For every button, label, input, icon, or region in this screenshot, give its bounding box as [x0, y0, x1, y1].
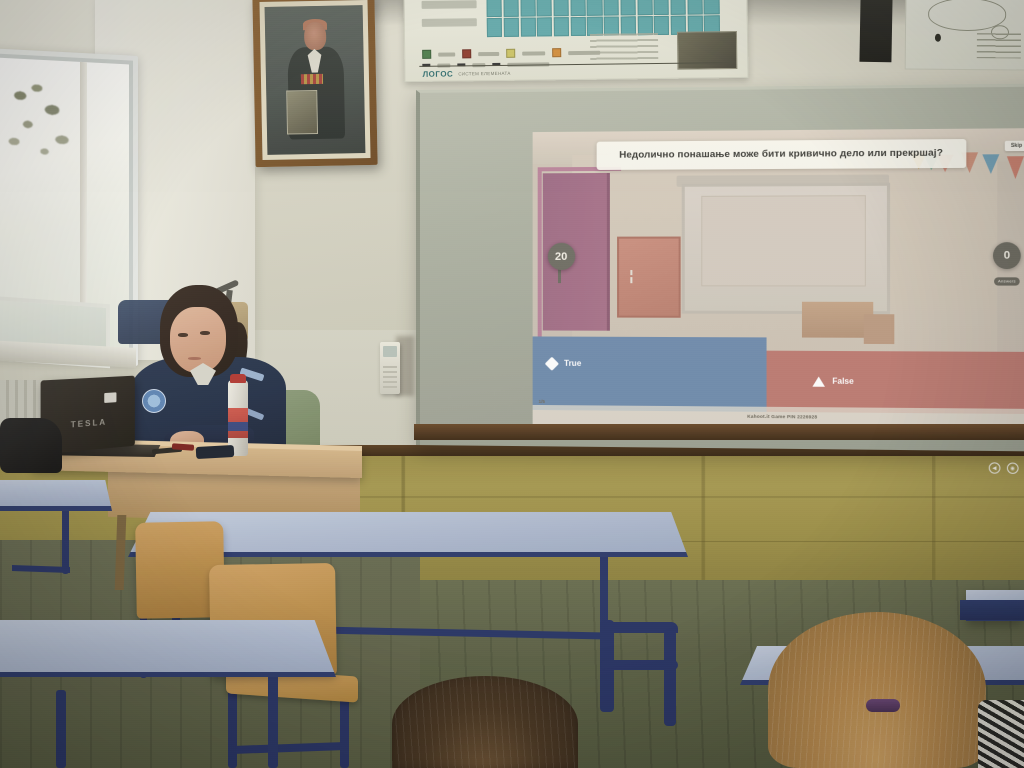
- ac-remote-control[interactable]: [380, 342, 400, 394]
- bottle-cap: [230, 374, 246, 383]
- answer-button-false[interactable]: False: [767, 351, 1024, 414]
- bag: [0, 418, 62, 473]
- student-desk: [0, 480, 112, 511]
- poster-legend-row-1: [422, 48, 600, 59]
- poster-row-label: [422, 0, 477, 9]
- periodic-table-poster: ЛОГОС СИСТЕМ ЕЛЕМЕНАТА: [403, 0, 748, 82]
- desk-leg: [268, 668, 278, 768]
- student-desk: [0, 620, 336, 677]
- poster-photo: [677, 31, 738, 69]
- illus-paper: [630, 270, 632, 275]
- phone-on-desk: [196, 445, 235, 459]
- kahoot-projection: Недолично понашање може бити кривично де…: [533, 128, 1024, 429]
- poster-brand-subtitle: СИСТЕМ ЕЛЕМЕНАТА: [458, 71, 510, 77]
- police-shoulder-patch: [142, 389, 166, 413]
- student-patterned-sleeve: [978, 700, 1024, 768]
- remote-screen: [383, 346, 397, 357]
- game-pin-text: Kahoot.it Game PIN 2226928: [747, 414, 817, 420]
- chair-frame-rail: [600, 660, 678, 670]
- portrait-mat: [259, 0, 370, 160]
- wall-dark-strip: [859, 0, 892, 62]
- presenter: [112, 285, 292, 460]
- poster-brand: ЛОГОС СИСТЕМ ЕЛЕМЕНАТА: [422, 69, 510, 79]
- triangle-icon: [812, 376, 825, 386]
- answers-count: 0: [993, 242, 1021, 269]
- wall-poster-right: [905, 0, 1024, 71]
- chair-leg: [228, 686, 237, 768]
- countdown-timer: 20: [547, 243, 574, 270]
- mute-icon[interactable]: ◉: [1007, 462, 1019, 474]
- presenter-eye: [200, 331, 210, 335]
- student-hair-strands: [768, 612, 986, 768]
- portrait-medals: [301, 74, 323, 85]
- illus-bulletin-board: [617, 237, 681, 318]
- answers-label: Answers: [994, 277, 1020, 285]
- answer-label-true: True: [564, 359, 581, 368]
- skip-button[interactable]: Skip: [1004, 140, 1024, 151]
- hair-tie: [866, 699, 900, 712]
- chair-frame-top: [604, 622, 678, 633]
- media-controls[interactable]: ◀ ◉ ⛶: [989, 462, 1024, 474]
- portrait-head: [304, 22, 326, 51]
- answers-counter-group: 0 Answers: [993, 242, 1021, 288]
- presenter-eye: [178, 333, 188, 337]
- volume-icon[interactable]: ◀: [989, 462, 1001, 474]
- poster-text-lines: [977, 33, 1021, 59]
- kahoot-question-text: Недолично понашање може бити кривично де…: [605, 146, 958, 162]
- bottle-label-band: [228, 422, 248, 431]
- laptop-brand-label: TESLA: [71, 417, 107, 430]
- student-blonde-ponytail: [768, 612, 986, 768]
- laptop-sticker: [104, 392, 116, 403]
- poster-row-label: [422, 18, 477, 27]
- answer-button-true[interactable]: True: [533, 336, 767, 411]
- chair-frame-back: [664, 630, 676, 726]
- illus-paper: [630, 277, 633, 283]
- presenter-mouth: [188, 357, 201, 360]
- portrait-book: [286, 90, 318, 134]
- window-foliage: [5, 75, 82, 184]
- poster-nail: [935, 34, 941, 42]
- diamond-icon: [545, 357, 559, 371]
- kahoot-answer-row: True False: [533, 336, 1024, 413]
- student-dark-hair: [392, 676, 578, 768]
- student-hair-strands: [392, 676, 578, 768]
- desk-leg: [56, 690, 66, 768]
- illus-whiteboard-inner: [702, 195, 866, 286]
- whiteboard: Недолично понашање може бити кривично де…: [416, 83, 1024, 451]
- kahoot-question-banner: Недолично понашање може бити кривично де…: [597, 139, 966, 170]
- remote-buttons[interactable]: [383, 366, 397, 388]
- poster-brand-name: ЛОГОС: [422, 70, 453, 79]
- framed-portrait: [252, 0, 377, 167]
- whiteboard-tray: [414, 424, 1024, 440]
- classroom-photo: ЛОГОС СИСТЕМ ЕЛЕМЕНАТА: [0, 0, 1024, 768]
- poster-side-notes: [590, 33, 659, 62]
- desk-leg: [62, 504, 69, 574]
- answer-label-false: False: [832, 377, 853, 386]
- page-indicator: 1/5: [539, 399, 545, 404]
- presenter-face: [170, 307, 226, 373]
- timer-stem: [558, 269, 561, 283]
